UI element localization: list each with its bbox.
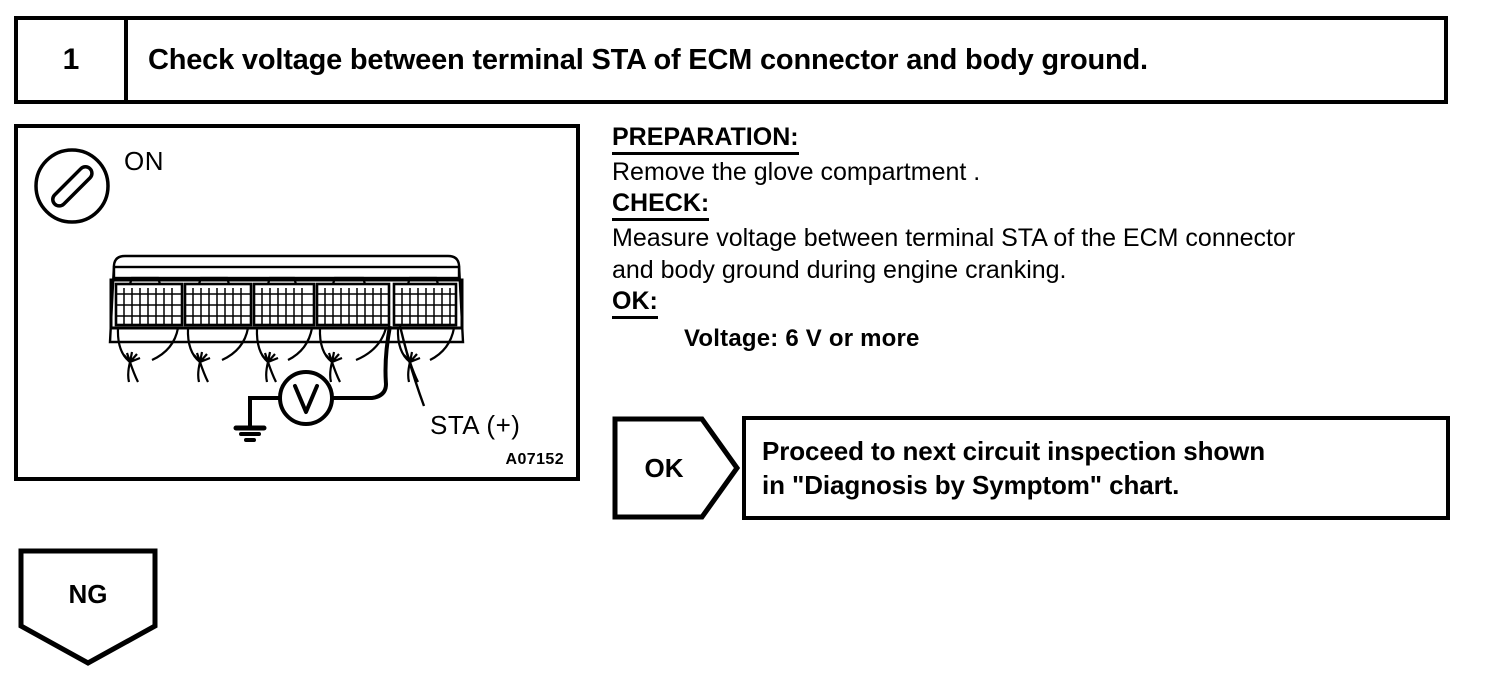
illustration-panel: ON STA (+) A07152	[14, 124, 580, 481]
step-header-row: 1 Check voltage between terminal STA of …	[14, 16, 1448, 104]
figure-id-label: A07152	[506, 451, 564, 469]
check-heading: CHECK:	[612, 190, 709, 221]
preparation-section: PREPARATION: Remove the glove compartmen…	[612, 124, 1472, 188]
step-number: 1	[63, 43, 80, 77]
voltmeter-symbol	[280, 372, 332, 424]
test-lead-ground	[250, 398, 280, 428]
sta-terminal-label: STA (+)	[430, 410, 520, 441]
ignition-state-label: ON	[124, 146, 164, 177]
connector-block	[116, 278, 182, 325]
preparation-heading: PREPARATION:	[612, 124, 799, 155]
connector-block	[185, 278, 251, 325]
ok-result-line-1: Proceed to next circuit inspection shown	[762, 434, 1446, 468]
check-text-line-2: and body ground during engine cranking.	[612, 256, 1472, 286]
ok-spec-section: OK: Voltage: 6 V or more	[612, 288, 1472, 353]
ok-result-line-2: in "Diagnosis by Symptom" chart.	[762, 468, 1446, 502]
body-ground-symbol	[236, 428, 264, 440]
ok-heading: OK:	[612, 288, 658, 319]
ignition-switch-icon	[36, 150, 108, 222]
ok-branch: OK Proceed to next circuit inspection sh…	[612, 416, 1450, 520]
preparation-text: Remove the glove compartment .	[612, 158, 1472, 188]
step-number-cell: 1	[18, 20, 128, 100]
ok-branch-label: OK	[612, 416, 716, 520]
connector-block	[394, 278, 456, 325]
connector-block	[254, 278, 314, 325]
ng-branch: NG	[18, 548, 158, 666]
ok-result-box: Proceed to next circuit inspection shown…	[742, 416, 1450, 520]
connector-block	[317, 278, 389, 325]
ok-voltage-spec: Voltage: 6 V or more	[684, 325, 1472, 353]
check-section: CHECK: Measure voltage between terminal …	[612, 190, 1472, 286]
test-lead-positive	[332, 326, 390, 398]
check-text-line-1: Measure voltage between terminal STA of …	[612, 224, 1472, 254]
ng-branch-label: NG	[18, 548, 158, 640]
connector-pin-blocks	[116, 278, 456, 325]
step-title: Check voltage between terminal STA of EC…	[148, 44, 1148, 77]
procedure-detail-text: PREPARATION: Remove the glove compartmen…	[612, 124, 1472, 353]
step-title-cell: Check voltage between terminal STA of EC…	[128, 20, 1444, 100]
